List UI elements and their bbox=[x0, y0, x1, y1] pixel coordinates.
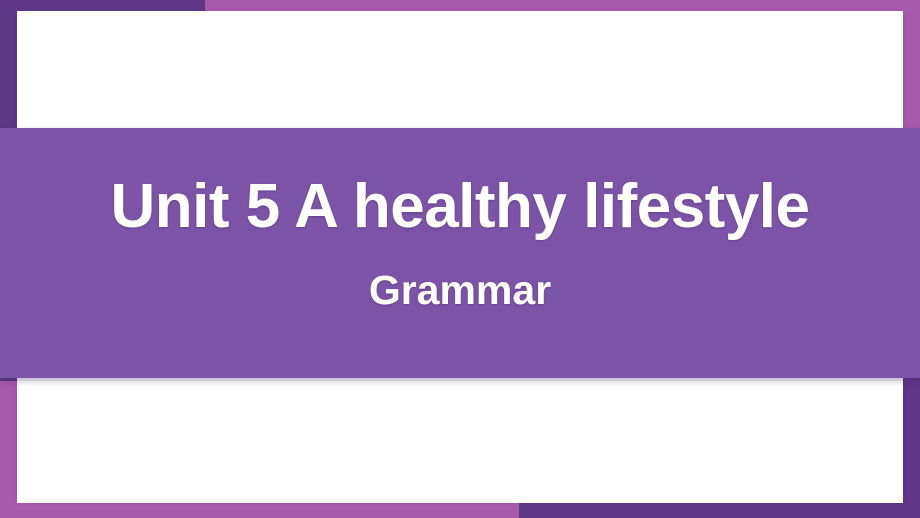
bottom-dark-accent-bar bbox=[519, 503, 920, 518]
slide-subtitle: Grammar bbox=[0, 270, 920, 311]
title-band: Unit 5 A healthy lifestyle Grammar bbox=[0, 128, 920, 378]
right-orchid-accent-column bbox=[903, 0, 920, 128]
presentation-slide: Unit 5 A healthy lifestyle Grammar bbox=[0, 0, 920, 518]
left-orchid-accent-column bbox=[0, 381, 17, 503]
bottom-orchid-accent-bar bbox=[0, 503, 519, 518]
right-dark-accent-column bbox=[903, 378, 920, 518]
slide-title: Unit 5 A healthy lifestyle bbox=[0, 176, 920, 238]
top-white-panel bbox=[17, 11, 903, 128]
bottom-white-panel bbox=[17, 381, 903, 503]
